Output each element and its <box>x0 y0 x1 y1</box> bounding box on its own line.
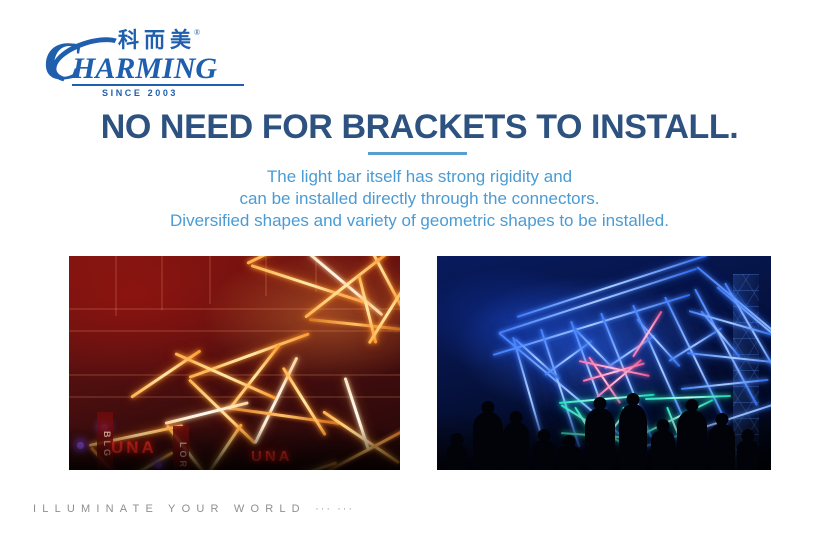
person-silhouette <box>585 408 615 470</box>
subtitle-block: The light bar itself has strong rigidity… <box>0 166 839 232</box>
page-title: NO NEED FOR BRACKETS TO INSTALL. <box>0 108 839 147</box>
subtitle-line-1: The light bar itself has strong rigidity… <box>0 166 839 188</box>
ceiling-rigging-pole <box>115 256 117 316</box>
person-silhouette <box>557 446 581 470</box>
person-silhouette <box>677 410 707 470</box>
title-divider <box>368 152 467 155</box>
ceiling-truss <box>69 330 400 332</box>
floor-shadow <box>69 426 400 470</box>
registered-trademark-icon: ® <box>194 28 200 37</box>
logo-since-text: SINCE 2003 <box>102 88 178 98</box>
ceiling-truss <box>69 308 400 310</box>
person-silhouette <box>737 440 759 470</box>
subtitle-line-2: can be installed directly through the co… <box>0 188 839 210</box>
brand-logo: C HARMING 科而美 ® SINCE 2003 <box>44 28 274 90</box>
ceiling-truss <box>69 374 400 376</box>
footer-tagline: ILLUMINATE YOUR WORLD ··· ··· <box>33 503 354 515</box>
person-silhouette <box>619 404 647 470</box>
ceiling-rigging-pole <box>209 256 211 304</box>
person-silhouette <box>447 444 467 470</box>
person-silhouette <box>709 424 735 470</box>
ceiling-rigging-pole <box>161 256 163 310</box>
person-silhouette <box>533 440 555 470</box>
logo-chinese-name: 科而美 <box>118 30 196 51</box>
audience-silhouettes <box>437 384 771 470</box>
photo-left-scene: BLG LOR UNA UNA <box>69 256 400 470</box>
logo-underline <box>72 84 244 86</box>
person-silhouette <box>503 422 529 470</box>
footer-dots: ··· ··· <box>315 503 354 515</box>
person-silhouette <box>473 412 503 470</box>
photo-left: BLG LOR UNA UNA <box>69 256 400 470</box>
logo-wordmark: HARMING <box>72 54 217 84</box>
subtitle-line-3: Diversified shapes and variety of geomet… <box>0 210 839 232</box>
photo-right <box>437 256 771 470</box>
person-silhouette <box>651 430 675 470</box>
ceiling-rigging-pole <box>265 256 267 296</box>
photo-right-scene <box>437 256 771 470</box>
footer-tagline-text: ILLUMINATE YOUR WORLD <box>33 503 306 515</box>
